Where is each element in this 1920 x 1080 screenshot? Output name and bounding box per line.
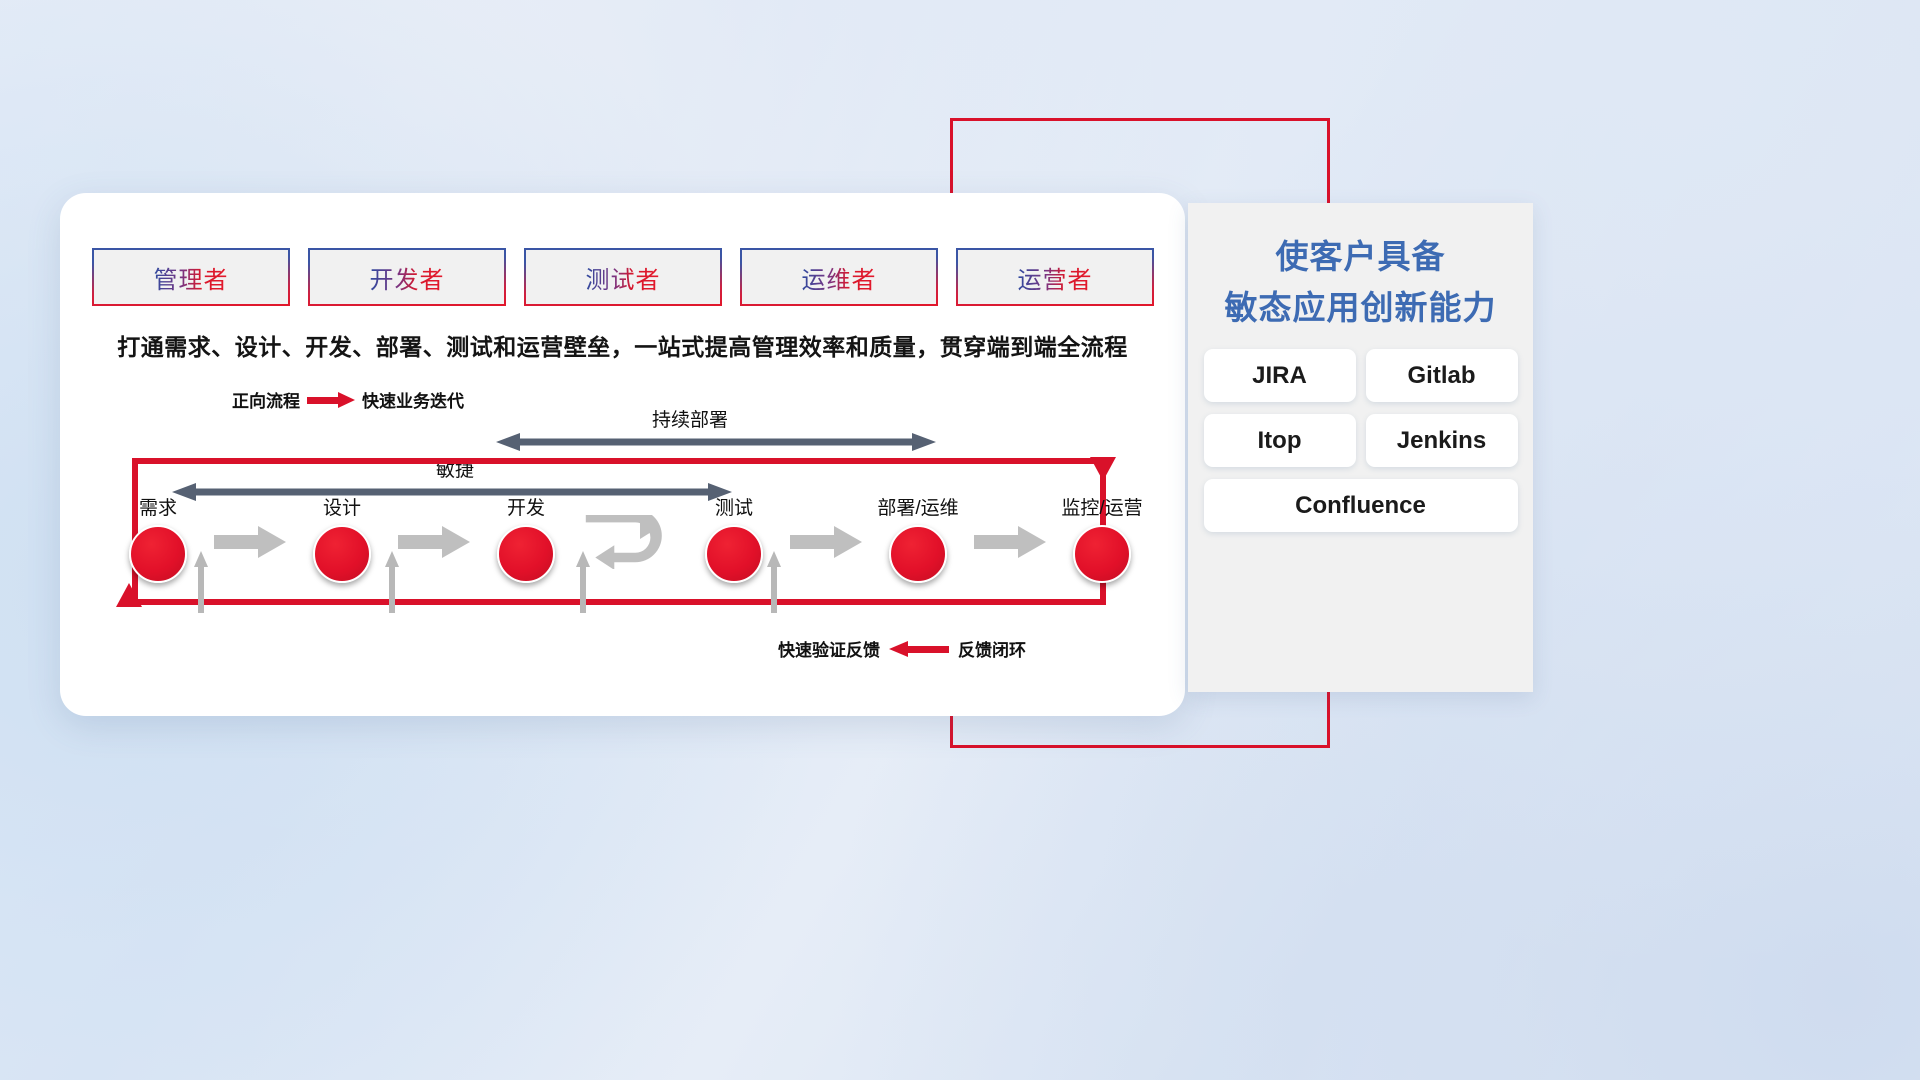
role-box-ops[interactable]: 运维者 bbox=[740, 248, 938, 306]
pipeline-connector-1 bbox=[206, 493, 294, 559]
pipeline-connector-3 bbox=[574, 493, 686, 569]
role-label: 运维者 bbox=[802, 260, 877, 295]
arrow-right-icon bbox=[214, 525, 286, 559]
pipeline-stage-requirement[interactable]: 需求 bbox=[110, 493, 206, 583]
stage-node-circle bbox=[129, 525, 187, 583]
pipeline-stage-test[interactable]: 测试 bbox=[686, 493, 782, 583]
arrow-right-icon bbox=[307, 392, 355, 408]
role-label: 管理者 bbox=[154, 260, 229, 295]
pipeline: 需求 设计 开发 bbox=[110, 493, 1150, 613]
arrow-left-icon bbox=[889, 641, 949, 657]
role-box-developer[interactable]: 开发者 bbox=[308, 248, 506, 306]
legend-feedback-from: 快速验证反馈 bbox=[778, 636, 880, 661]
legend-forward-flow: 正向流程 快速业务迭代 bbox=[232, 387, 464, 412]
arrow-right-icon bbox=[974, 525, 1046, 559]
span-arrow-continuous-deployment bbox=[496, 433, 936, 451]
role-label: 开发者 bbox=[370, 260, 445, 295]
tool-tag-list: JIRA Gitlab Itop Jenkins Confluence bbox=[1188, 349, 1533, 532]
right-panel-title: 使客户具备 敏态应用创新能力 bbox=[1188, 203, 1533, 333]
stage-label: 需求 bbox=[139, 493, 177, 520]
role-box-operations[interactable]: 运营者 bbox=[956, 248, 1154, 306]
pipeline-stage-deploy-ops[interactable]: 部署/运维 bbox=[870, 493, 966, 583]
tool-tag-jenkins[interactable]: Jenkins bbox=[1366, 414, 1518, 467]
legend-forward-from: 正向流程 bbox=[232, 387, 300, 412]
right-panel-title-line1: 使客户具备 bbox=[1188, 231, 1533, 282]
feedback-loop-arrow-down-icon bbox=[1090, 451, 1116, 481]
stage-label: 测试 bbox=[715, 493, 753, 520]
stage-label: 监控/运营 bbox=[1061, 493, 1142, 520]
stage-node-circle bbox=[313, 525, 371, 583]
main-card: 管理者 开发者 测试者 运维者 运营者 打通需求、设计、开发、部署、测试和运营壁… bbox=[60, 193, 1185, 716]
pipeline-connector-5 bbox=[966, 493, 1054, 559]
tool-tag-jira[interactable]: JIRA bbox=[1204, 349, 1356, 402]
legend-feedback-to: 反馈闭环 bbox=[958, 636, 1026, 661]
role-label: 运营者 bbox=[1018, 260, 1093, 295]
tool-tag-confluence[interactable]: Confluence bbox=[1204, 479, 1518, 532]
legend-feedback-loop: 快速验证反馈 反馈闭环 bbox=[778, 636, 1026, 661]
tool-tag-gitlab[interactable]: Gitlab bbox=[1366, 349, 1518, 402]
role-label: 测试者 bbox=[586, 260, 661, 295]
card-description: 打通需求、设计、开发、部署、测试和运营壁垒，一站式提高管理效率和质量，贯穿端到端… bbox=[60, 328, 1185, 362]
pipeline-stage-design[interactable]: 设计 bbox=[294, 493, 390, 583]
pipeline-connector-4 bbox=[782, 493, 870, 559]
stage-label: 部署/运维 bbox=[877, 493, 958, 520]
span-label-continuous-deployment: 持续部署 bbox=[652, 405, 728, 432]
pipeline-connector-2 bbox=[390, 493, 478, 559]
right-panel-title-line2: 敏态应用创新能力 bbox=[1188, 282, 1533, 333]
arrow-right-icon bbox=[790, 525, 862, 559]
pipeline-stage-monitor-operations[interactable]: 监控/运营 bbox=[1054, 493, 1150, 583]
stage-node-circle bbox=[889, 525, 947, 583]
arrow-right-icon bbox=[398, 525, 470, 559]
stage-node-circle bbox=[497, 525, 555, 583]
legend-forward-to: 快速业务迭代 bbox=[362, 387, 464, 412]
role-box-tester[interactable]: 测试者 bbox=[524, 248, 722, 306]
role-boxes: 管理者 开发者 测试者 运维者 运营者 bbox=[92, 248, 1154, 306]
stage-node-circle bbox=[705, 525, 763, 583]
slide-canvas: 管理者 开发者 测试者 运维者 运营者 打通需求、设计、开发、部署、测试和运营壁… bbox=[0, 0, 1920, 1080]
right-panel: 使客户具备 敏态应用创新能力 JIRA Gitlab Itop Jenkins … bbox=[1188, 203, 1533, 692]
role-box-manager[interactable]: 管理者 bbox=[92, 248, 290, 306]
stage-node-circle bbox=[1073, 525, 1131, 583]
stage-label: 开发 bbox=[507, 493, 545, 520]
loop-back-icon bbox=[582, 515, 678, 569]
tool-tag-itop[interactable]: Itop bbox=[1204, 414, 1356, 467]
pipeline-stage-develop[interactable]: 开发 bbox=[478, 493, 574, 583]
stage-label: 设计 bbox=[323, 493, 361, 520]
